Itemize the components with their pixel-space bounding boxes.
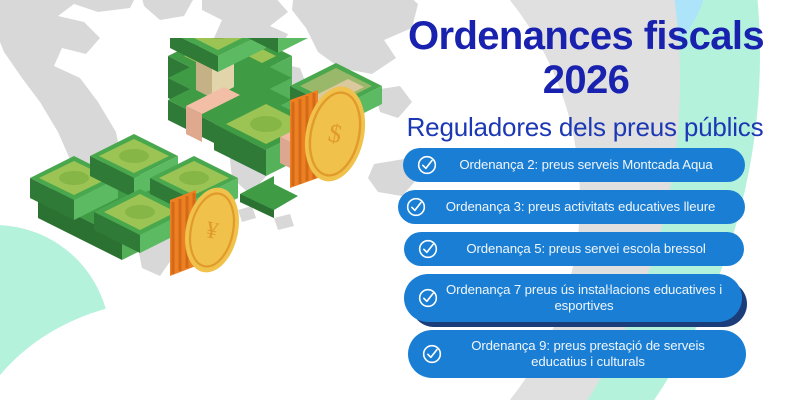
background-white-bottom — [0, 300, 380, 400]
page-subtitle: Reguladores dels preus públics — [388, 112, 782, 142]
money-illustration: $ ¥ — [18, 38, 408, 288]
check-circle-icon — [418, 239, 438, 259]
list-item[interactable]: Ordenança 7 preus ús instaŀlacions educa… — [404, 274, 742, 322]
list-item[interactable]: Ordenança 5: preus servei escola bressol — [404, 232, 744, 266]
list-item[interactable]: Ordenança 2: preus serveis Montcada Aqua — [403, 148, 745, 182]
green-arrow — [240, 176, 298, 218]
list-item[interactable]: Ordenança 9: preus prestaçió de serveis … — [408, 330, 746, 378]
list-item-label: Ordenança 2: preus serveis Montcada Aqua — [437, 157, 745, 173]
poster-canvas: $ ¥ Ordenances fiscals 2026 Reguladores … — [0, 0, 800, 400]
page-title-line2: 2026 — [388, 58, 784, 102]
page-title: Ordenances fiscals 2026 — [388, 14, 784, 102]
list-item-label: Ordenança 9: preus prestaçió de serveis … — [442, 338, 746, 370]
check-circle-icon — [422, 344, 442, 364]
list-item[interactable]: Ordenança 3: preus activitats educatives… — [398, 190, 745, 224]
check-circle-icon — [417, 155, 437, 175]
list-item-label: Ordenança 7 preus ús instaŀlacions educa… — [438, 282, 742, 314]
list-item-label: Ordenança 5: preus servei escola bressol — [438, 241, 744, 257]
check-circle-icon — [418, 288, 438, 308]
page-title-line1: Ordenances fiscals — [388, 14, 784, 58]
list-item-label: Ordenança 3: preus activitats educatives… — [426, 199, 745, 215]
content-column: Ordenances fiscals 2026 Reguladores dels… — [388, 0, 788, 400]
check-circle-icon — [406, 197, 426, 217]
